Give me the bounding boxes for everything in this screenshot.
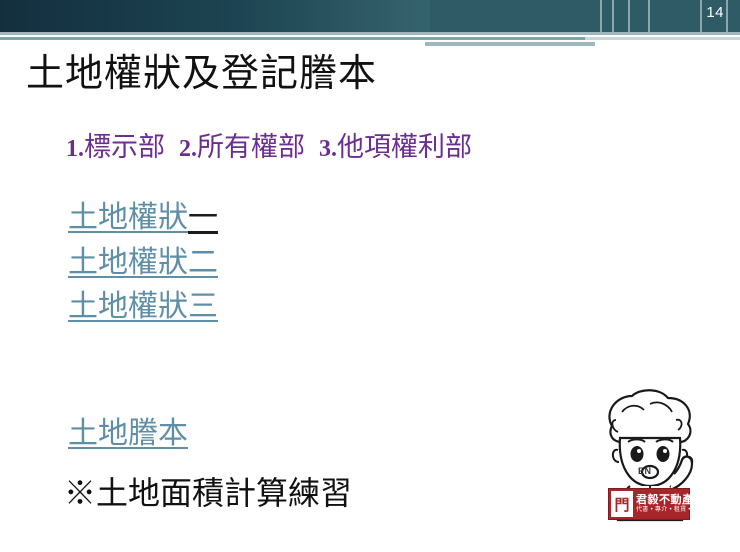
- header-tick: [726, 0, 728, 32]
- brand-mark-icon: 門: [611, 491, 633, 517]
- link-label: 土地謄本: [68, 416, 188, 451]
- link-label: 土地權狀三: [68, 289, 218, 324]
- link-land-certificate-1[interactable]: 土地權狀一: [68, 192, 218, 236]
- list-number: 2.: [179, 136, 197, 162]
- numbered-list: 1.標示部2.所有權部3.他項權利部: [66, 125, 472, 164]
- link-label-tail: 二: [188, 245, 218, 280]
- divider-stripe: [425, 42, 595, 46]
- link-land-certificate-2[interactable]: 土地權狀二: [68, 237, 218, 281]
- slide-number: 14: [706, 4, 724, 21]
- divider-stripe: [595, 42, 740, 46]
- brand-text: 君毅不動產 代書 • 專介 • 租賃 • 履約: [633, 495, 705, 513]
- header-tick: [700, 0, 702, 32]
- link-label: 土地權狀: [68, 200, 188, 235]
- header-tick: [628, 0, 630, 32]
- header-band-gradient: [0, 0, 430, 32]
- brand-tagline: 代書 • 專介 • 租賃 • 履約: [636, 507, 705, 513]
- header-tick: [612, 0, 614, 32]
- header-band-teal: [430, 0, 740, 32]
- link-land-transcript[interactable]: 土地謄本: [68, 408, 188, 452]
- page-title: 土地權狀及登記謄本: [26, 42, 377, 97]
- header-tick: [600, 0, 602, 32]
- list-label: 所有權部: [197, 132, 305, 163]
- list-label: 他項權利部: [337, 132, 472, 163]
- slide-canvas: 14 土地權狀及登記謄本 1.標示部2.所有權部3.他項權利部 土地權狀一 土地…: [0, 0, 740, 552]
- header-tick: [648, 0, 650, 32]
- exercise-note: ※土地面積計算練習: [64, 468, 352, 514]
- link-land-certificate-3[interactable]: 土地權狀三: [68, 281, 218, 325]
- list-number: 1.: [66, 136, 84, 162]
- list-number: 3.: [319, 136, 337, 162]
- list-label: 標示部: [84, 132, 165, 163]
- brand-logo: 門 君毅不動產 代書 • 專介 • 租賃 • 履約: [608, 488, 690, 520]
- link-label-tail: 一: [188, 200, 218, 235]
- mascot-en-label: EN: [638, 466, 652, 476]
- brand-name: 君毅不動產: [636, 495, 705, 507]
- link-label: 土地權狀: [68, 245, 188, 280]
